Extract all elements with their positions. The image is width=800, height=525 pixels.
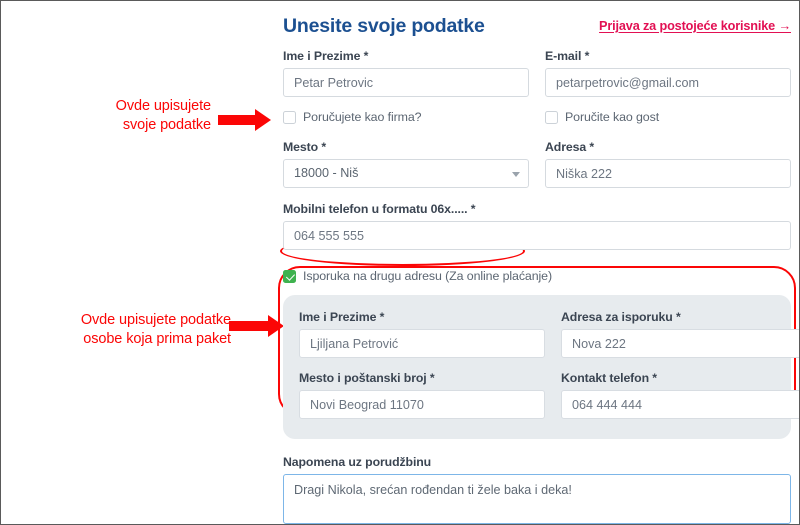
row-recipient-name-address: Ime i Prezime * Adresa za isporuku *	[299, 310, 775, 358]
input-recipient-phone[interactable]	[561, 390, 800, 419]
label-recipient-city-zip: Mesto i poštanski broj *	[299, 371, 545, 385]
textarea-order-note[interactable]	[283, 474, 791, 524]
checkout-form: Unesite svoje podatke Prijava za postoje…	[283, 15, 791, 525]
label-buyer-phone: Mobilni telefon u formatu 06x..... *	[283, 202, 791, 216]
field-buyer-city: Mesto * 18000 - Niš	[283, 140, 529, 188]
row-recipient-city-phone: Mesto i poštanski broj * Kontakt telefon…	[299, 371, 775, 419]
label-buyer-email: E-mail *	[545, 49, 791, 63]
row-checkboxes: Poručujete kao firma? Poručite kao gost	[283, 107, 791, 127]
label-recipient-name: Ime i Prezime *	[299, 310, 545, 324]
field-recipient-name: Ime i Prezime *	[299, 310, 545, 358]
input-recipient-address[interactable]	[561, 329, 800, 358]
annotation-buyer-data: Ovde upisujete svoje podatke	[29, 97, 211, 135]
select-buyer-city[interactable]: 18000 - Niš	[283, 159, 529, 188]
field-order-note: Napomena uz porudžbinu	[283, 455, 791, 525]
label-recipient-address: Adresa za isporuku *	[561, 310, 800, 324]
label-delivery-other-address[interactable]: Isporuka na drugu adresu (Za online plać…	[303, 269, 552, 283]
label-company-checkbox[interactable]: Poručujete kao firma?	[303, 110, 421, 124]
input-buyer-phone[interactable]	[283, 221, 791, 250]
field-recipient-address: Adresa za isporuku *	[561, 310, 800, 358]
field-company-checkbox: Poručujete kao firma?	[283, 107, 529, 127]
input-buyer-address[interactable]	[545, 159, 791, 188]
input-buyer-name[interactable]	[283, 68, 529, 97]
page-title: Unesite svoje podatke	[283, 15, 485, 38]
input-recipient-city-zip[interactable]	[299, 390, 545, 419]
checkbox-row-guest[interactable]: Poručite kao gost	[545, 107, 791, 127]
annotation-recipient-data: Ovde upisujete podatke osobe koja prima …	[9, 311, 231, 349]
field-buyer-name: Ime i Prezime *	[283, 49, 529, 97]
label-buyer-name: Ime i Prezime *	[283, 49, 529, 63]
order-note-wrap	[283, 474, 791, 525]
checkbox-delivery-other-address[interactable]	[283, 270, 296, 283]
checkbox-row-company[interactable]: Poručujete kao firma?	[283, 107, 529, 127]
annotation-arrow-buyer	[218, 115, 256, 125]
row-phone: Mobilni telefon u formatu 06x..... *	[283, 202, 791, 250]
label-guest-checkbox[interactable]: Poručite kao gost	[565, 110, 659, 124]
label-buyer-city: Mesto *	[283, 140, 529, 154]
checkbox-guest[interactable]	[545, 111, 558, 124]
existing-user-login-link[interactable]: Prijava za postojeće korisnike →	[599, 19, 791, 33]
field-recipient-phone: Kontakt telefon *	[561, 371, 800, 419]
label-recipient-phone: Kontakt telefon *	[561, 371, 800, 385]
form-header: Unesite svoje podatke Prijava za postoje…	[283, 15, 791, 49]
field-buyer-address: Adresa *	[545, 140, 791, 188]
label-buyer-address: Adresa *	[545, 140, 791, 154]
checkout-form-screenshot: Ovde upisujete svoje podatke Ovde upisuj…	[0, 0, 800, 525]
input-buyer-email[interactable]	[545, 68, 791, 97]
label-order-note: Napomena uz porudžbinu	[283, 455, 791, 469]
input-recipient-name[interactable]	[299, 329, 545, 358]
field-recipient-city-zip: Mesto i poštanski broj *	[299, 371, 545, 419]
field-buyer-phone: Mobilni telefon u formatu 06x..... *	[283, 202, 791, 250]
checkbox-row-delivery[interactable]: Isporuka na drugu adresu (Za online plać…	[283, 266, 791, 286]
row-delivery-toggle: Isporuka na drugu adresu (Za online plać…	[283, 266, 791, 286]
checkbox-company[interactable]	[283, 111, 296, 124]
field-delivery-toggle: Isporuka na drugu adresu (Za online plać…	[283, 266, 791, 286]
row-name-email: Ime i Prezime * E-mail *	[283, 49, 791, 97]
select-wrap-buyer-city[interactable]: 18000 - Niš	[283, 159, 529, 188]
field-guest-checkbox: Poručite kao gost	[545, 107, 791, 127]
field-buyer-email: E-mail *	[545, 49, 791, 97]
row-order-note: Napomena uz porudžbinu	[283, 455, 791, 525]
recipient-panel: Ime i Prezime * Adresa za isporuku * Mes…	[283, 295, 791, 439]
annotation-arrow-recipient	[229, 321, 269, 331]
row-city-address: Mesto * 18000 - Niš Adresa *	[283, 140, 791, 188]
